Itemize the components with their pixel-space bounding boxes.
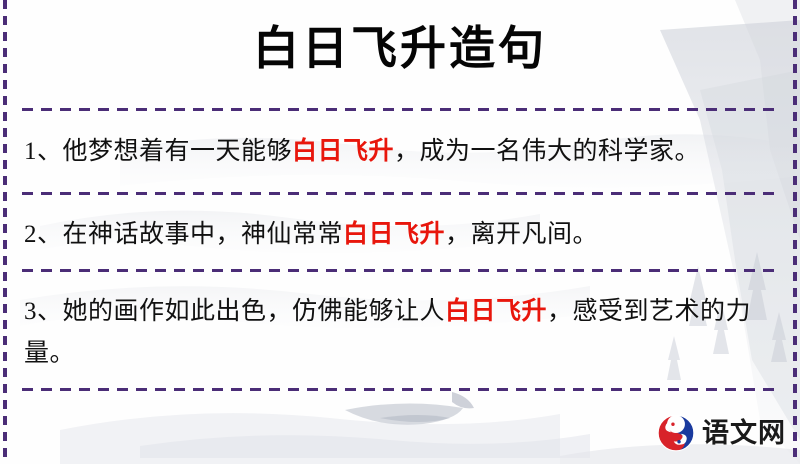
list-item: 1、他梦想着有一天能够白日飞升，成为一名伟大的科学家。: [24, 130, 774, 172]
list-item: 2、在神话故事中，神仙常常白日飞升，离开凡间。: [24, 213, 774, 255]
divider-below-sentence-1: [22, 192, 778, 195]
list-item: 3、她的画作如此出色，仿佛能够让人白日飞升，感受到艺术的力量。: [24, 290, 774, 373]
sentence-text-before: 她的画作如此出色，仿佛能够让人: [63, 296, 446, 325]
sentence-text-before: 在神话故事中，神仙常常: [63, 219, 344, 248]
keyword-highlight: 白日飞升: [292, 136, 394, 165]
divider-above-sentence-1: [22, 108, 778, 111]
sentence-number: 3、: [24, 298, 63, 325]
keyword-highlight: 白日飞升: [445, 296, 547, 325]
sentence-text-after: ，离开凡间。: [445, 219, 598, 248]
page-title: 白日飞升造句: [0, 18, 800, 78]
sentence-text-after: ，成为一名伟大的科学家。: [394, 136, 700, 165]
yinyang-logo-icon: [657, 414, 695, 452]
sentence-number: 2、: [24, 221, 63, 248]
sentence-number: 1、: [24, 138, 63, 165]
site-logo[interactable]: 语文网: [657, 414, 786, 452]
page-root: 白日飞升造句 1、他梦想着有一天能够白日飞升，成为一名伟大的科学家。 2、在神话…: [0, 0, 800, 464]
divider-below-sentence-3: [22, 388, 778, 391]
watermark-lake-and-boat: [60, 392, 590, 464]
keyword-highlight: 白日飞升: [343, 219, 445, 248]
sentence-text-before: 他梦想着有一天能够: [63, 136, 293, 165]
divider-below-sentence-2: [22, 269, 778, 272]
logo-text: 语文网: [702, 420, 786, 447]
